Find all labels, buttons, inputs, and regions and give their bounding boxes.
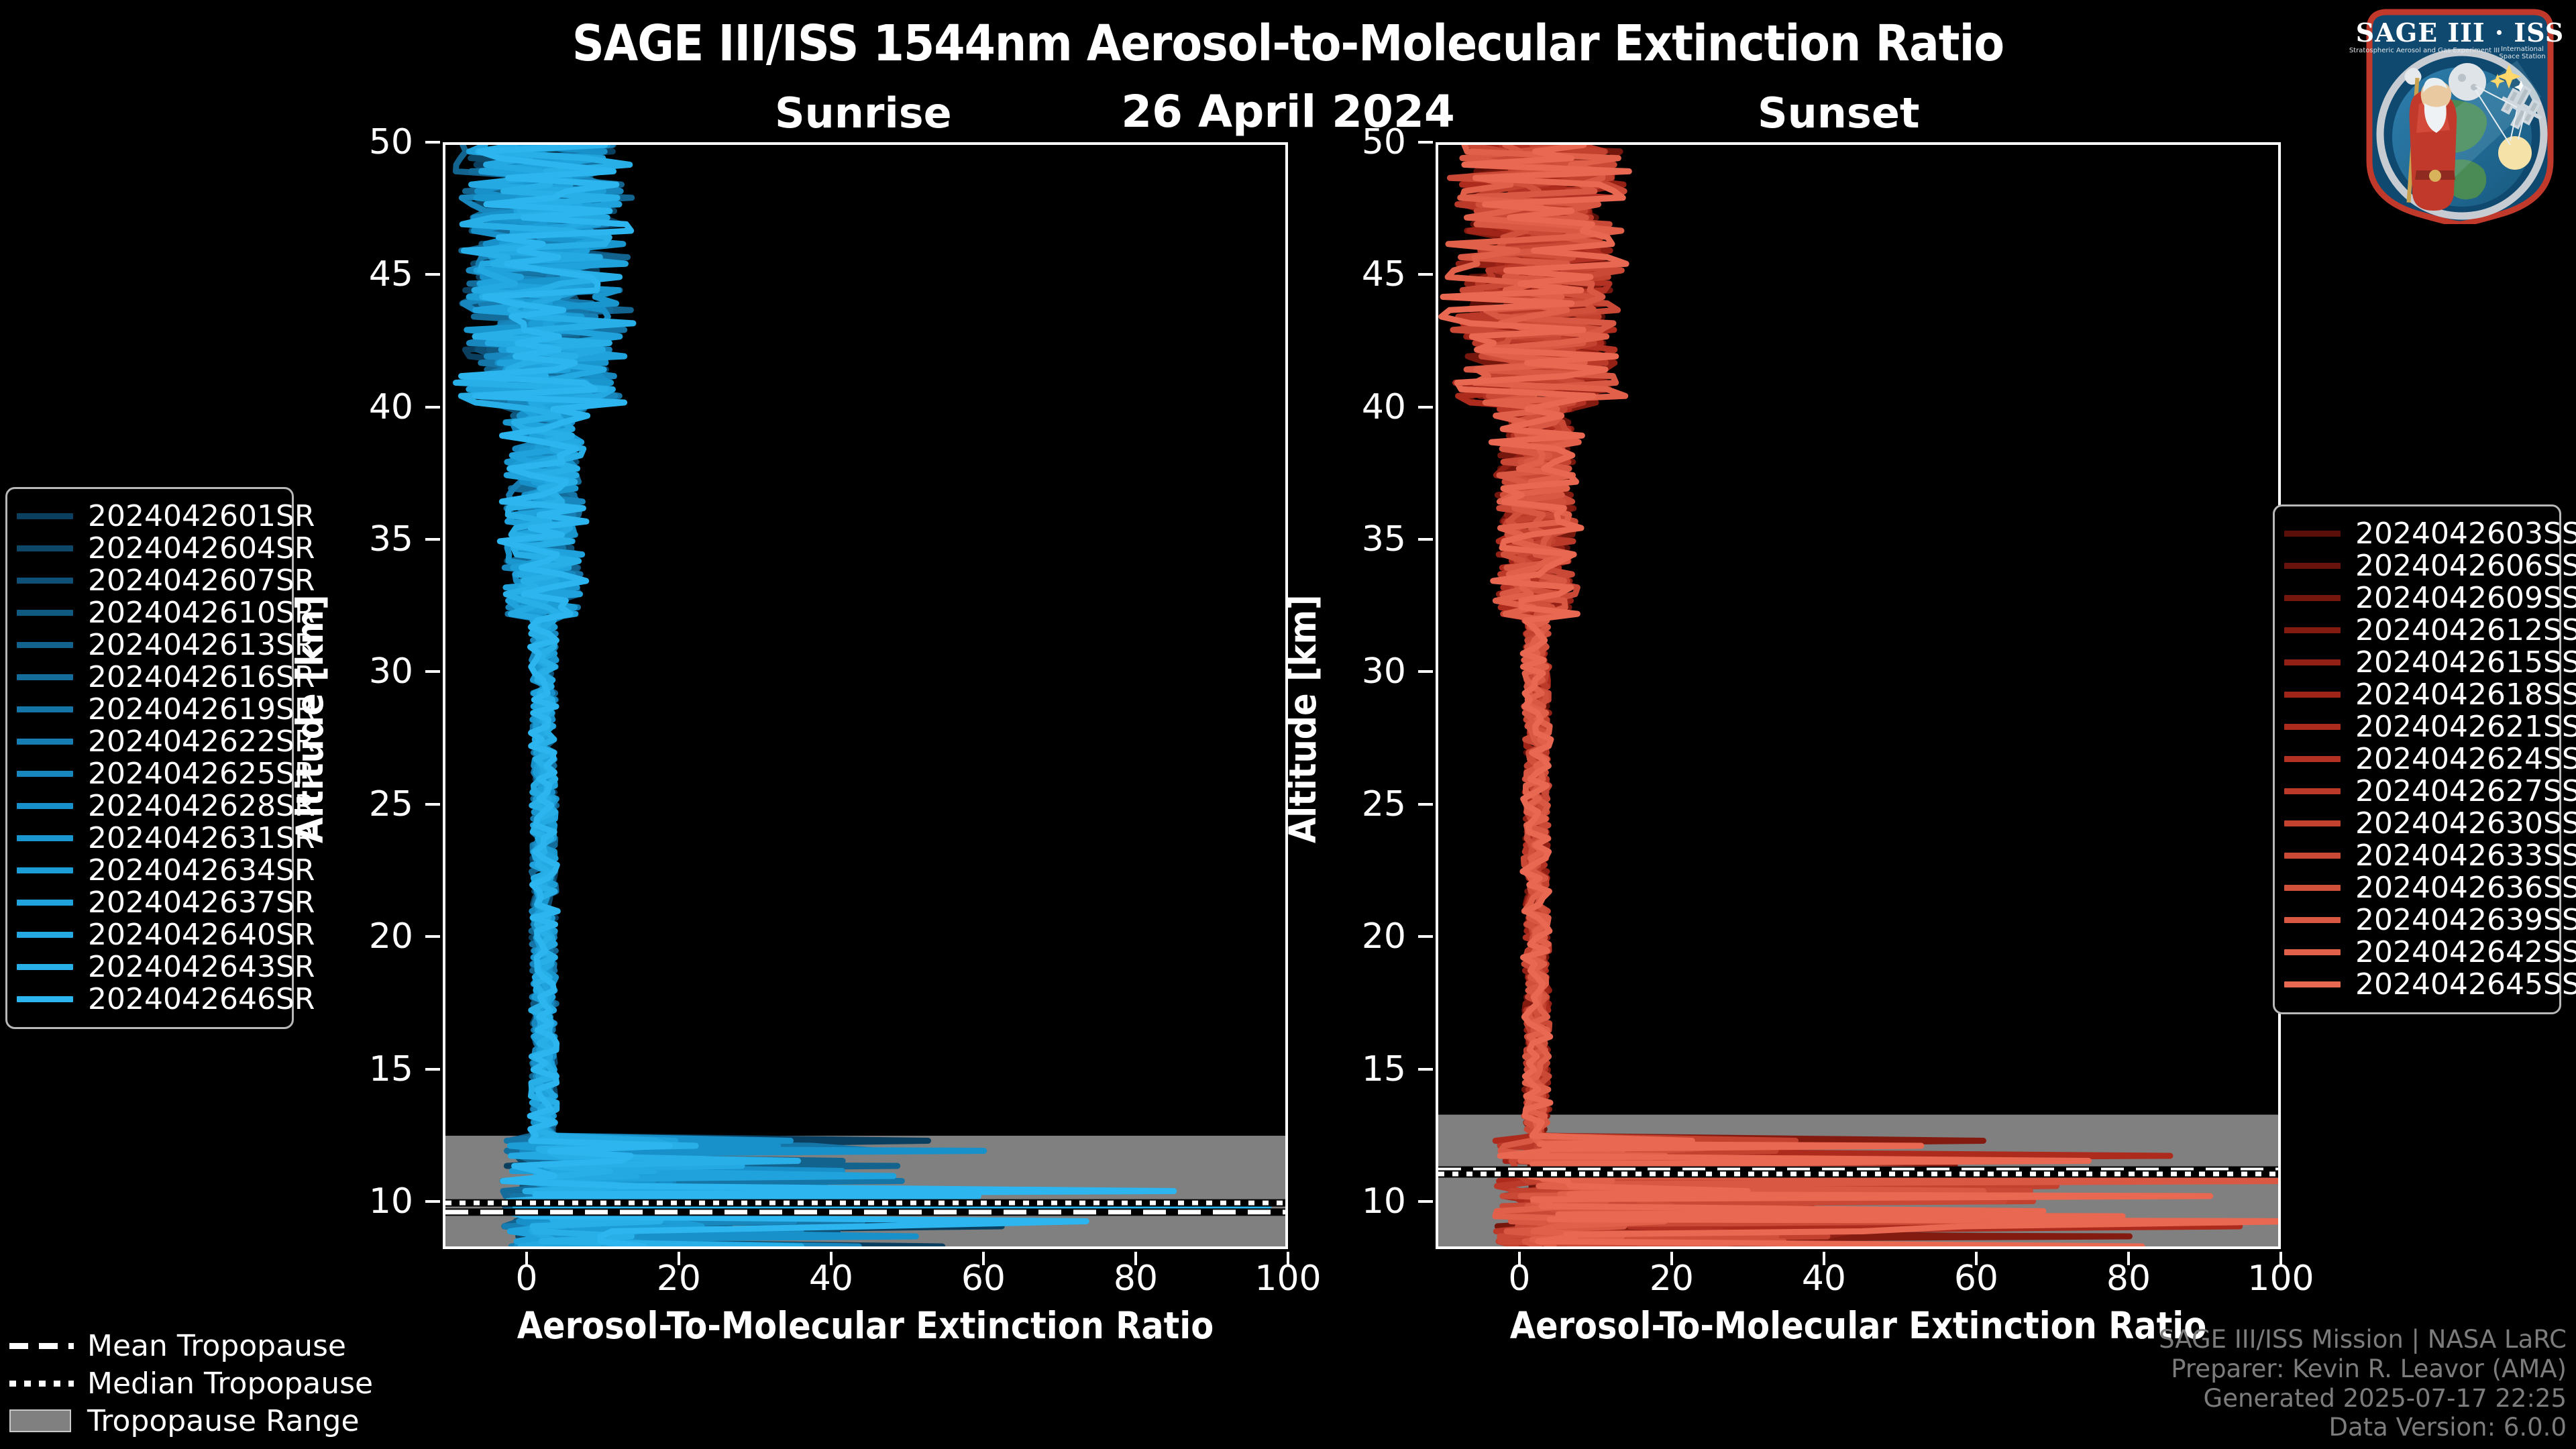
sunset-legend-item[interactable]: 2024042603SS [2284, 517, 2546, 549]
y-axis-tick-label: 40 [1362, 387, 1406, 427]
series-label: 2024042618SS [2355, 678, 2576, 712]
y-axis-tick-mark [425, 670, 440, 673]
y-axis-tick-label: 35 [1362, 519, 1406, 559]
series-color-swatch [2284, 659, 2341, 665]
y-axis-tick-mark [1418, 1200, 1433, 1203]
sunset-legend-item[interactable]: 2024042627SS [2284, 775, 2546, 807]
credit-data-version: Data Version: 6.0.0 [2159, 1413, 2567, 1442]
page-title: SAGE III/ISS 1544nm Aerosol-to-Molecular… [0, 15, 2576, 72]
y-axis-tick-label: 35 [369, 519, 413, 559]
y-axis-tick-label: 30 [1362, 651, 1406, 692]
filled-box-icon [9, 1413, 74, 1429]
legend-item-mean-tropopause: Mean Tropopause [9, 1327, 358, 1364]
sunset-y-axis: 101520253035404550Altitude [km] [1275, 142, 1433, 1249]
x-axis-tick-label: 100 [1254, 1258, 1321, 1299]
series-label: 2024042639SS [2355, 903, 2576, 937]
sunrise-legend-item[interactable]: 2024042619SR [17, 693, 278, 725]
series-color-swatch [2284, 853, 2341, 859]
series-color-swatch [17, 513, 73, 519]
y-axis-tick-label: 25 [1362, 784, 1406, 824]
sunset-legend-item[interactable]: 2024042636SS [2284, 871, 2546, 904]
credit-generated: Generated 2025-07-17 22:25 [2159, 1384, 2567, 1413]
tropopause-legend: Mean Tropopause Median Tropopause Tropop… [9, 1327, 358, 1440]
sunrise-legend[interactable]: 2024042601SR2024042604SR2024042607SR2024… [5, 487, 294, 1029]
svg-text:Stratospheric Aerosol and Gas: Stratospheric Aerosol and Gas Experiment… [2349, 47, 2500, 54]
series-label: 2024042619SR [88, 692, 315, 727]
sunrise-legend-item[interactable]: 2024042616SR [17, 661, 278, 693]
y-axis-tick-label: 45 [369, 254, 413, 294]
sunset-panel-title: Sunset [1758, 89, 1920, 138]
y-axis-tick-mark [425, 406, 440, 409]
series-color-swatch [17, 771, 73, 777]
sunrise-legend-item[interactable]: 2024042631SR [17, 822, 278, 854]
series-color-swatch [17, 867, 73, 873]
series-label: 2024042601SR [88, 499, 315, 533]
series-color-swatch [2284, 595, 2341, 601]
median-tropopause-label: Median Tropopause [87, 1366, 373, 1401]
mean-tropopause-label: Mean Tropopause [87, 1329, 346, 1363]
sunrise-legend-item[interactable]: 2024042613SR [17, 629, 278, 661]
legend-item-tropopause-range: Tropopause Range [9, 1402, 358, 1440]
series-color-swatch [2284, 788, 2341, 794]
sunset-legend-item[interactable]: 2024042609SS [2284, 582, 2546, 614]
series-color-swatch [2284, 692, 2341, 698]
x-axis-tick-label: 0 [1508, 1258, 1530, 1299]
svg-text:SAGE III · ISS: SAGE III · ISS [2356, 17, 2564, 48]
series-label: 2024042615SS [2355, 645, 2576, 680]
sunset-legend-item[interactable]: 2024042633SS [2284, 839, 2546, 871]
x-axis-tick-label: 20 [1650, 1258, 1694, 1299]
y-axis-tick-label: 20 [369, 916, 413, 957]
tropopause-range-label: Tropopause Range [87, 1404, 360, 1438]
credit-mission: SAGE III/ISS Mission | NASA LaRC [2159, 1325, 2567, 1354]
series-label: 2024042646SR [88, 982, 315, 1016]
sunset-legend-item[interactable]: 2024042630SS [2284, 807, 2546, 839]
series-color-swatch [17, 835, 73, 841]
y-axis-tick-label: 15 [1362, 1049, 1406, 1089]
x-axis-tick-label: 20 [657, 1258, 701, 1299]
series-label: 2024042610SR [88, 596, 315, 630]
y-axis-tick-label: 10 [1362, 1181, 1406, 1222]
legend-item-median-tropopause: Median Tropopause [9, 1364, 358, 1402]
x-axis-tick-label: 40 [809, 1258, 853, 1299]
sunrise-legend-item[interactable]: 2024042622SR [17, 725, 278, 757]
series-color-swatch [2284, 756, 2341, 762]
sunrise-legend-item[interactable]: 2024042637SR [17, 886, 278, 918]
series-label: 2024042643SR [88, 950, 315, 984]
series-label: 2024042609SS [2355, 581, 2576, 615]
sunrise-legend-item[interactable]: 2024042634SR [17, 854, 278, 886]
series-color-swatch [17, 932, 73, 938]
sunrise-legend-item[interactable]: 2024042643SR [17, 951, 278, 983]
series-color-swatch [17, 706, 73, 712]
series-color-swatch [17, 642, 73, 648]
series-label: 2024042612SS [2355, 613, 2576, 647]
y-axis-tick-label: 30 [369, 651, 413, 692]
y-axis-tick-mark [1418, 935, 1433, 938]
series-label: 2024042603SS [2355, 517, 2576, 551]
series-label: 2024042604SR [88, 531, 315, 566]
svg-text:Space Station: Space Station [2499, 53, 2545, 60]
sunset-legend-item[interactable]: 2024042639SS [2284, 904, 2546, 936]
y-axis-tick-label: 40 [369, 387, 413, 427]
series-label: 2024042624SS [2355, 742, 2576, 776]
series-color-swatch [2284, 820, 2341, 826]
x-axis-tick-label: 60 [1954, 1258, 1998, 1299]
y-axis-tick-mark [425, 273, 440, 276]
series-label: 2024042634SR [88, 853, 315, 888]
y-axis-tick-mark [1418, 538, 1433, 541]
y-axis-tick-mark [1418, 141, 1433, 144]
series-color-swatch [2284, 981, 2341, 987]
credits-block: SAGE III/ISS Mission | NASA LaRC Prepare… [2159, 1325, 2567, 1442]
sunset-legend-item[interactable]: 2024042618SS [2284, 678, 2546, 710]
series-label: 2024042642SS [2355, 935, 2576, 969]
sunrise-legend-item[interactable]: 2024042604SR [17, 532, 278, 564]
sunset-legend-item[interactable]: 2024042624SS [2284, 743, 2546, 775]
series-color-swatch [2284, 563, 2341, 569]
y-axis-tick-mark [425, 141, 440, 144]
series-label: 2024042621SS [2355, 710, 2576, 744]
series-label: 2024042607SR [88, 563, 315, 598]
y-axis-tick-mark [1418, 803, 1433, 806]
y-axis-tick-mark [1418, 406, 1433, 409]
sunrise-legend-item[interactable]: 2024042625SR [17, 757, 278, 790]
y-axis-tick-mark [1418, 670, 1433, 673]
series-label: 2024042636SS [2355, 871, 2576, 905]
series-color-swatch [17, 996, 73, 1002]
x-axis-title: Aerosol-To-Molecular Extinction Ratio [443, 1304, 1288, 1347]
series-label: 2024042633SS [2355, 839, 2576, 873]
y-axis-tick-mark [1418, 1068, 1433, 1071]
series-label: 2024042628SR [88, 789, 315, 823]
y-axis-tick-label: 50 [1362, 122, 1406, 162]
sunrise-legend-item[interactable]: 2024042601SR [17, 500, 278, 532]
x-axis-title: Aerosol-To-Molecular Extinction Ratio [1436, 1304, 2281, 1347]
sunset-legend-item[interactable]: 2024042615SS [2284, 646, 2546, 678]
series-color-swatch [17, 578, 73, 584]
dotted-line-icon [9, 1375, 74, 1391]
svg-text:International: International [2501, 46, 2544, 53]
sunset-legend-item[interactable]: 2024042612SS [2284, 614, 2546, 646]
series-label: 2024042637SR [88, 885, 315, 920]
sunrise-plot-area [443, 142, 1288, 1249]
series-label: 2024042640SR [88, 918, 315, 952]
x-axis-tick-label: 80 [2106, 1258, 2151, 1299]
dashed-line-icon [9, 1338, 74, 1354]
series-label: 2024042627SS [2355, 774, 2576, 808]
sunrise-legend-item[interactable]: 2024042607SR [17, 564, 278, 596]
sunset-legend-item[interactable]: 2024042621SS [2284, 710, 2546, 743]
series-color-swatch [2284, 917, 2341, 923]
y-axis-tick-label: 45 [1362, 254, 1406, 294]
y-axis-tick-mark [425, 1068, 440, 1071]
series-color-swatch [17, 964, 73, 970]
x-axis-tick-label: 80 [1114, 1258, 1158, 1299]
y-axis-tick-label: 15 [369, 1049, 413, 1089]
sunrise-profile-canvas [445, 145, 1285, 1246]
series-label: 2024042625SR [88, 757, 315, 791]
sunset-legend[interactable]: 2024042603SS2024042606SS2024042609SS2024… [2273, 504, 2561, 1014]
sunset-legend-item[interactable]: 2024042642SS [2284, 936, 2546, 968]
x-axis-tick-label: 100 [2247, 1258, 2314, 1299]
sunset-legend-item[interactable]: 2024042606SS [2284, 549, 2546, 582]
sunrise-legend-item[interactable]: 2024042640SR [17, 918, 278, 951]
y-axis-tick-mark [425, 538, 440, 541]
series-color-swatch [17, 545, 73, 551]
y-axis-tick-label: 50 [369, 122, 413, 162]
y-axis-tick-mark [1418, 273, 1433, 276]
series-color-swatch [2284, 531, 2341, 537]
series-label: 2024042613SR [88, 628, 315, 662]
sunrise-legend-item[interactable]: 2024042628SR [17, 790, 278, 822]
series-label: 2024042616SR [88, 660, 315, 694]
sunrise-legend-item[interactable]: 2024042646SR [17, 983, 278, 1015]
sunset-legend-item[interactable]: 2024042645SS [2284, 968, 2546, 1000]
series-color-swatch [17, 900, 73, 906]
series-color-swatch [2284, 885, 2341, 891]
series-color-swatch [2284, 949, 2341, 955]
x-axis-tick-label: 60 [961, 1258, 1006, 1299]
x-axis-tick-label: 40 [1802, 1258, 1846, 1299]
series-color-swatch [2284, 627, 2341, 633]
y-axis-tick-mark [425, 1200, 440, 1203]
y-axis-tick-label: 25 [369, 784, 413, 824]
series-label: 2024042631SR [88, 821, 315, 855]
y-axis-title: Altitude [km] [1281, 594, 1324, 843]
series-label: 2024042622SR [88, 724, 315, 759]
y-axis-tick-label: 10 [369, 1181, 413, 1222]
sunrise-legend-item[interactable]: 2024042610SR [17, 596, 278, 629]
y-axis-tick-label: 20 [1362, 916, 1406, 957]
sunset-profile-canvas [1438, 145, 2278, 1246]
sunset-x-axis: 020406080100Aerosol-To-Molecular Extinct… [1436, 1252, 2281, 1352]
series-color-swatch [17, 739, 73, 745]
y-axis-tick-mark [425, 803, 440, 806]
series-color-swatch [2284, 724, 2341, 730]
sunrise-x-axis: 020406080100Aerosol-To-Molecular Extinct… [443, 1252, 1288, 1352]
series-label: 2024042645SS [2355, 967, 2576, 1002]
y-axis-tick-mark [425, 935, 440, 938]
sunset-plot-area [1436, 142, 2281, 1249]
series-color-swatch [17, 610, 73, 616]
x-axis-tick-label: 0 [515, 1258, 537, 1299]
credit-preparer: Preparer: Kevin R. Leavor (AMA) [2159, 1354, 2567, 1384]
series-color-swatch [17, 803, 73, 809]
series-label: 2024042630SS [2355, 806, 2576, 841]
series-color-swatch [17, 674, 73, 680]
sage-iii-iss-mission-patch-logo: SAGE III · ISS Stratospheric Aerosol and… [2349, 3, 2571, 224]
series-label: 2024042606SS [2355, 549, 2576, 583]
mission-patch-icon: SAGE III · ISS Stratospheric Aerosol and… [2349, 3, 2571, 224]
